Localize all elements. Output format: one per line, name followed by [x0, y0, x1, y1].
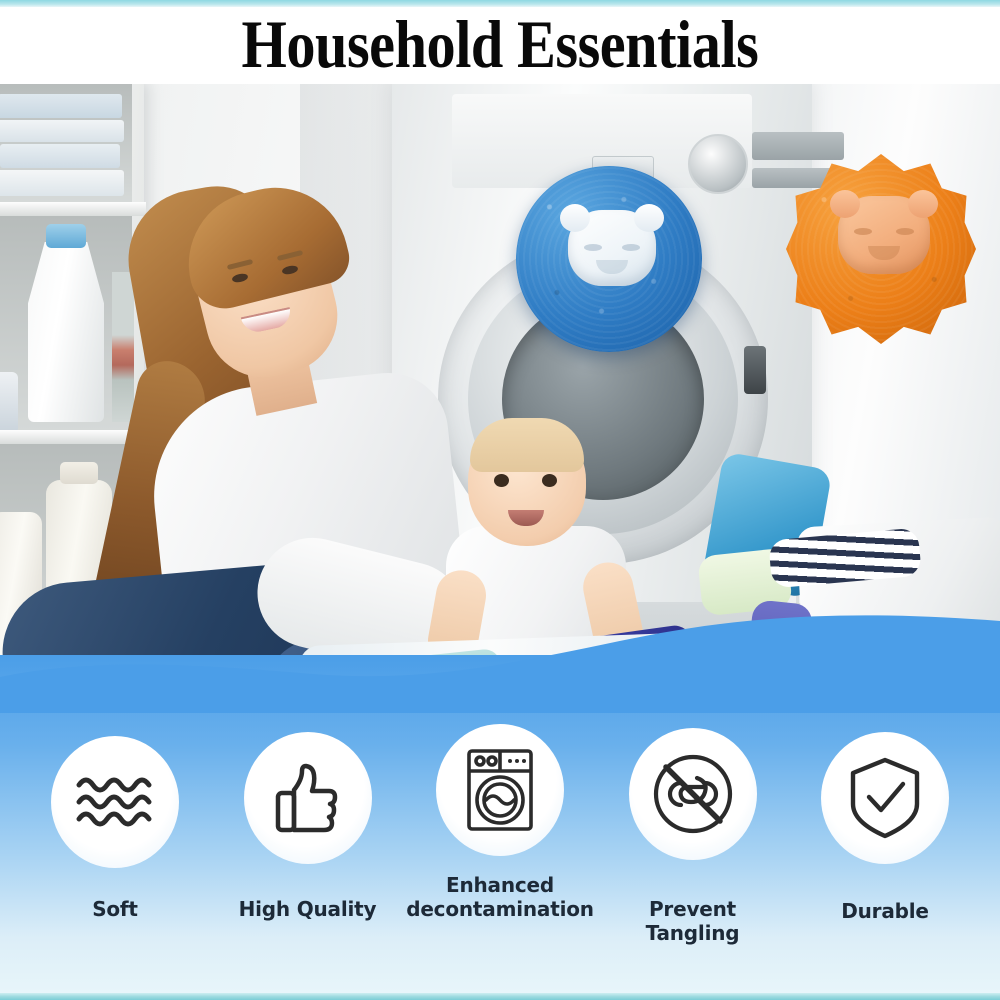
detergent-cap — [46, 224, 86, 248]
title-band: Household Essentials — [0, 6, 1000, 84]
orange-lint-ball — [786, 154, 976, 344]
benefit-high-quality[interactable]: High Quality — [217, 718, 399, 922]
bear-ear — [908, 190, 938, 218]
benefit-prevent-tangling[interactable]: Prevent Tangling — [602, 718, 784, 945]
benefit-icon-circle — [629, 728, 757, 860]
wave-divider — [0, 603, 1000, 713]
folded-towel — [0, 94, 122, 118]
product-poster: Household Essentials — [0, 0, 1000, 1000]
waves-icon — [74, 771, 156, 833]
detergent-bottle — [28, 242, 104, 422]
bear-ear — [830, 190, 860, 218]
no-tangle-icon — [651, 752, 735, 836]
benefit-enhanced-decontamination[interactable]: Enhanced decontamination — [409, 718, 591, 921]
benefit-durable[interactable]: Durable — [794, 718, 976, 924]
benefit-label: Durable — [841, 900, 929, 924]
bottom-edge-strip — [0, 993, 1000, 1000]
baby-eye — [494, 474, 509, 487]
bear-ear — [634, 204, 664, 232]
benefit-icon-circle — [821, 732, 949, 864]
bear-snout — [868, 246, 900, 260]
benefit-icon-circle — [244, 732, 372, 864]
bear-ear — [560, 204, 590, 232]
shelf-bottle-small — [0, 372, 18, 434]
baby-hair — [470, 418, 584, 472]
thumbs-up-icon — [272, 760, 344, 836]
benefit-soft[interactable]: Soft — [24, 718, 206, 922]
bear-eye — [584, 244, 602, 251]
folded-towel — [0, 144, 120, 168]
bear-face-peach — [838, 196, 930, 274]
page-title: Household Essentials — [242, 11, 759, 79]
washing-machine-icon — [465, 748, 535, 832]
bear-eye — [854, 228, 872, 235]
bear-snout — [596, 260, 628, 274]
bear-face-white — [568, 210, 656, 286]
benefits-row: Soft High Quality — [0, 718, 1000, 1000]
bear-eye — [622, 244, 640, 251]
folded-towel — [0, 120, 124, 142]
benefits-panel: Soft High Quality — [0, 655, 1000, 1000]
benefit-icon-circle — [436, 724, 564, 856]
benefit-label: Prevent Tangling — [602, 898, 784, 945]
baby-eye — [542, 474, 557, 487]
benefit-label: Soft — [92, 898, 138, 922]
top-edge-strip — [0, 0, 1000, 7]
benefit-icon-circle — [51, 736, 179, 868]
blue-lint-ball — [516, 166, 702, 352]
benefit-label: Enhanced decontamination — [406, 874, 594, 921]
benefit-label: High Quality — [239, 898, 377, 922]
door-latch — [744, 346, 766, 394]
shield-check-icon — [847, 756, 923, 840]
bear-eye — [896, 228, 914, 235]
bottle-neck — [60, 462, 98, 484]
